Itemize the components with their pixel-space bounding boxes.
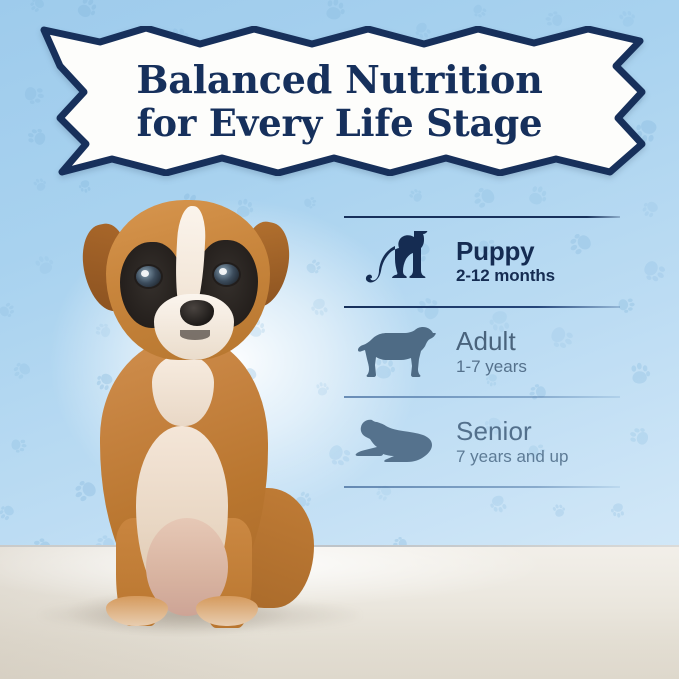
- title-banner-shape: [0, 26, 679, 176]
- life-stage-text-senior: Senior 7 years and up: [456, 418, 644, 467]
- paw-print-icon: [0, 500, 19, 525]
- paw-print-icon: [469, 0, 491, 22]
- paw-print-icon: [9, 436, 28, 455]
- dog-eye-highlight-right: [219, 268, 227, 275]
- paw-print-icon: [609, 501, 628, 520]
- life-stage-list: Puppy 2-12 months Adult 1-7 years: [344, 216, 644, 488]
- paw-print-icon: [320, 0, 348, 23]
- life-stage-row-senior[interactable]: Senior 7 years and up: [344, 398, 644, 486]
- life-stage-age-range: 2-12 months: [456, 267, 644, 286]
- life-stage-title: Senior: [456, 418, 644, 445]
- paw-print-icon: [70, 0, 102, 24]
- sitting-puppy-silhouette-icon: [344, 231, 456, 293]
- lying-senior-dog-silhouette-icon: [344, 414, 456, 470]
- paw-print-icon: [25, 0, 48, 17]
- life-stage-row-adult[interactable]: Adult 1-7 years: [344, 308, 644, 396]
- life-stage-row-puppy[interactable]: Puppy 2-12 months: [344, 218, 644, 306]
- life-stage-title: Puppy: [456, 238, 644, 265]
- life-stage-text-adult: Adult 1-7 years: [456, 328, 644, 377]
- dog-eye-highlight-left: [141, 270, 149, 277]
- standing-adult-dog-silhouette-icon: [344, 321, 456, 383]
- life-stage-age-range: 7 years and up: [456, 448, 644, 467]
- life-stage-title: Adult: [456, 328, 644, 355]
- paw-print-icon: [467, 181, 500, 214]
- paw-print-icon: [523, 180, 552, 209]
- dog-mouth: [180, 330, 210, 340]
- divider-bottom: [344, 486, 620, 488]
- paw-print-icon: [487, 492, 513, 518]
- dog-eye-left: [136, 266, 161, 287]
- life-stage-text-puppy: Puppy 2-12 months: [456, 238, 644, 286]
- infographic-canvas: Balanced Nutrition for Every Life Stage …: [0, 0, 679, 679]
- dog-eye-right: [214, 264, 239, 285]
- paw-print-icon: [0, 298, 19, 322]
- life-stage-age-range: 1-7 years: [456, 358, 644, 377]
- paw-print-icon: [405, 185, 427, 207]
- boxer-puppy-photo: [28, 188, 328, 640]
- paw-print-icon: [549, 500, 569, 520]
